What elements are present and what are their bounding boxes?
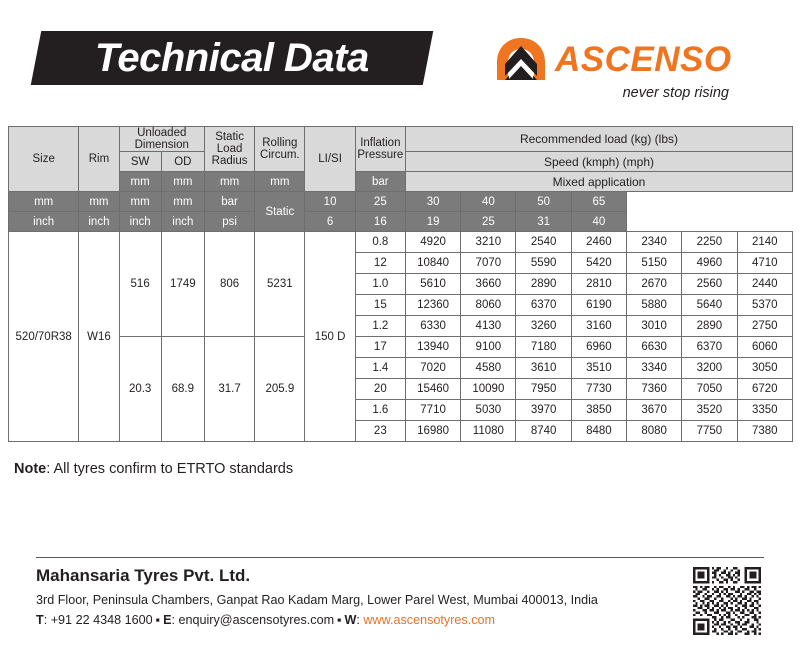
cell-load-2: 8480 <box>571 421 626 442</box>
cell-pressure: 1.2 <box>355 316 405 337</box>
phone-value: : +91 22 4348 1600 <box>44 613 153 627</box>
phone-label: T <box>36 613 44 627</box>
cell-li-si: 150 D <box>305 232 355 442</box>
cell-pressure: 15 <box>355 295 405 316</box>
page-header: Technical Data ASCENSO never stop rising <box>0 0 800 110</box>
unit-rc-inch: inch <box>161 212 204 232</box>
cell-load-2: 2460 <box>571 232 626 253</box>
cell-load-0: 11080 <box>461 421 516 442</box>
cell-load-2: 6960 <box>571 337 626 358</box>
brand-tagline: never stop rising <box>493 85 733 101</box>
speed-mph-4: 31 <box>516 212 571 232</box>
cell-load-3: 8080 <box>627 421 682 442</box>
cell-load-0: 9100 <box>461 337 516 358</box>
qr-code-icon <box>693 567 761 635</box>
cell-pressure: 12 <box>355 253 405 274</box>
cell-load-4: 3200 <box>682 358 737 379</box>
email-value[interactable]: : enquiry@ascensotyres.com <box>171 613 334 627</box>
cell-static-load: 15460 <box>405 379 460 400</box>
cell-static-load: 12360 <box>405 295 460 316</box>
cell-load-3: 2340 <box>627 232 682 253</box>
ascenso-chevron-arch-logo-icon <box>493 36 549 82</box>
unit-rc-mm-2: mm <box>161 192 204 212</box>
cell-sw-inch: 20.3 <box>119 337 161 442</box>
website-link[interactable]: www.ascensotyres.com <box>363 613 495 627</box>
speed-mph-5: 40 <box>571 212 626 232</box>
speed-kmph-5: 65 <box>571 192 626 212</box>
brand-name: ASCENSO <box>555 42 732 77</box>
unit-sw-inch: inch <box>9 212 79 232</box>
contact-separator-1: ▪ <box>153 613 163 627</box>
cell-load-3: 5880 <box>627 295 682 316</box>
cell-rc-inch: 205.9 <box>255 337 305 442</box>
cell-load-4: 7050 <box>682 379 737 400</box>
cell-load-5: 6720 <box>737 379 792 400</box>
cell-load-2: 6190 <box>571 295 626 316</box>
cell-od-mm: 1749 <box>161 232 204 337</box>
cell-load-5: 2140 <box>737 232 792 253</box>
web-label: W <box>345 613 357 627</box>
cell-load-0: 10090 <box>461 379 516 400</box>
cell-load-5: 6060 <box>737 337 792 358</box>
cell-pressure: 0.8 <box>355 232 405 253</box>
cell-load-5: 5370 <box>737 295 792 316</box>
cell-sw-mm: 516 <box>119 232 161 337</box>
col-header-size: Size <box>9 127 79 192</box>
unit-slr-mm: mm <box>204 172 254 192</box>
cell-load-1: 7180 <box>516 337 571 358</box>
cell-load-3: 3670 <box>627 400 682 421</box>
unit-od-inch: inch <box>79 212 119 232</box>
unit-pressure-bar: bar <box>355 172 405 192</box>
cell-pressure: 23 <box>355 421 405 442</box>
cell-load-3: 5150 <box>627 253 682 274</box>
company-name: Mahansaria Tyres Pvt. Ltd. <box>36 566 676 586</box>
speed-kmph-0: 10 <box>305 192 355 212</box>
cell-load-1: 2540 <box>516 232 571 253</box>
cell-load-5: 3350 <box>737 400 792 421</box>
technical-data-table-wrapper: Size Rim Unloaded Dimension Static Load … <box>8 126 793 442</box>
company-address: 3rd Floor, Peninsula Chambers, Ganpat Ra… <box>36 593 676 607</box>
col-header-sw: SW <box>119 152 161 172</box>
cell-load-5: 3050 <box>737 358 792 379</box>
cell-pressure: 17 <box>355 337 405 358</box>
col-header-rim: Rim <box>79 127 119 192</box>
col-header-inflation-pressure: Inflation Pressure <box>355 127 405 172</box>
speed-kmph-2: 30 <box>405 192 460 212</box>
brand-logo: ASCENSO never stop rising <box>493 36 733 101</box>
page-title: Technical Data <box>95 36 369 81</box>
col-header-speed: Speed (kmph) (mph) <box>405 152 792 172</box>
cell-load-1: 8740 <box>516 421 571 442</box>
unit-sw-mm-2: mm <box>9 192 79 212</box>
cell-load-4: 6370 <box>682 337 737 358</box>
cell-load-3: 7360 <box>627 379 682 400</box>
cell-pressure: 1.4 <box>355 358 405 379</box>
note-text: : All tyres confirm to ETRTO standards <box>46 461 293 477</box>
cell-load-0: 4580 <box>461 358 516 379</box>
table-header-row-speed-kmph: mm mm mm mm bar Static 10 25 30 40 50 65 <box>9 192 793 212</box>
cell-load-0: 7070 <box>461 253 516 274</box>
cell-size: 520/70R38 <box>9 232 79 442</box>
speed-mph-1: 16 <box>355 212 405 232</box>
cell-static-load: 4920 <box>405 232 460 253</box>
web-colon: : <box>356 613 360 627</box>
cell-load-1: 2890 <box>516 274 571 295</box>
cell-load-4: 7750 <box>682 421 737 442</box>
cell-load-2: 3510 <box>571 358 626 379</box>
cell-load-1: 3260 <box>516 316 571 337</box>
cell-static-load: 5610 <box>405 274 460 295</box>
footer-divider <box>36 557 764 558</box>
table-row: 520/70R38 W16 516 1749 806 5231 150 D 0.… <box>9 232 793 253</box>
cell-load-1: 6370 <box>516 295 571 316</box>
cell-static-load: 10840 <box>405 253 460 274</box>
speed-mph-3: 25 <box>461 212 516 232</box>
speed-mph-2: 19 <box>405 212 460 232</box>
col-header-recommended-load: Recommended load (kg) (lbs) <box>405 127 792 152</box>
cell-load-0: 8060 <box>461 295 516 316</box>
cell-load-5: 7380 <box>737 421 792 442</box>
contact-separator-2: ▪ <box>334 613 344 627</box>
speed-mph-0: 6 <box>305 212 355 232</box>
footer: Mahansaria Tyres Pvt. Ltd. 3rd Floor, Pe… <box>36 566 676 627</box>
cell-load-1: 3970 <box>516 400 571 421</box>
table-header-row-3: mm mm mm mm bar Mixed application <box>9 172 793 192</box>
col-header-unloaded-dimension: Unloaded Dimension <box>119 127 204 152</box>
unit-pressure-psi: psi <box>204 212 254 232</box>
cell-load-0: 5030 <box>461 400 516 421</box>
unit-od-mm-2: mm <box>79 192 119 212</box>
unit-pressure-bar-2: bar <box>204 192 254 212</box>
cell-static-load: 6330 <box>405 316 460 337</box>
cell-static-load: 7020 <box>405 358 460 379</box>
col-header-static-load-radius: Static Load Radius <box>204 127 254 172</box>
cell-load-4: 2250 <box>682 232 737 253</box>
col-header-mixed-application: Mixed application <box>405 172 792 192</box>
col-header-rolling-circum: Rolling Circum. <box>255 127 305 172</box>
cell-od-inch: 68.9 <box>161 337 204 442</box>
cell-load-5: 4710 <box>737 253 792 274</box>
cell-static-load: 7710 <box>405 400 460 421</box>
cell-rim: W16 <box>79 232 119 442</box>
cell-load-0: 3660 <box>461 274 516 295</box>
unit-slr-inch: inch <box>119 212 161 232</box>
cell-slr-inch: 31.7 <box>204 337 254 442</box>
unit-od-mm: mm <box>161 172 204 192</box>
cell-load-3: 6630 <box>627 337 682 358</box>
cell-load-1: 5590 <box>516 253 571 274</box>
cell-load-3: 3010 <box>627 316 682 337</box>
cell-load-5: 2750 <box>737 316 792 337</box>
speed-kmph-1: 25 <box>355 192 405 212</box>
cell-load-4: 2890 <box>682 316 737 337</box>
cell-load-5: 2440 <box>737 274 792 295</box>
cell-load-0: 3210 <box>461 232 516 253</box>
table-header-row-1: Size Rim Unloaded Dimension Static Load … <box>9 127 793 152</box>
note: Note: All tyres confirm to ETRTO standar… <box>14 461 293 477</box>
col-header-static: Static <box>255 192 305 232</box>
cell-load-3: 2670 <box>627 274 682 295</box>
page-title-banner: Technical Data <box>31 31 433 85</box>
cell-static-load: 13940 <box>405 337 460 358</box>
cell-load-4: 3520 <box>682 400 737 421</box>
cell-pressure: 20 <box>355 379 405 400</box>
unit-sw-mm: mm <box>119 172 161 192</box>
cell-load-2: 5420 <box>571 253 626 274</box>
speed-kmph-4: 50 <box>516 192 571 212</box>
cell-load-4: 4960 <box>682 253 737 274</box>
cell-load-4: 5640 <box>682 295 737 316</box>
cell-load-3: 3340 <box>627 358 682 379</box>
cell-load-4: 2560 <box>682 274 737 295</box>
cell-pressure: 1.0 <box>355 274 405 295</box>
cell-load-2: 7730 <box>571 379 626 400</box>
company-contact: T: +91 22 4348 1600▪E: enquiry@ascensoty… <box>36 613 676 627</box>
cell-rc-mm: 5231 <box>255 232 305 337</box>
cell-slr-mm: 806 <box>204 232 254 337</box>
col-header-li-si: LI/SI <box>305 127 355 192</box>
table-row: 20.3 68.9 31.7 205.9 17 13940 9100 7180 … <box>9 337 793 358</box>
col-header-od: OD <box>161 152 204 172</box>
cell-load-1: 7950 <box>516 379 571 400</box>
cell-load-2: 3160 <box>571 316 626 337</box>
note-label: Note <box>14 461 46 477</box>
cell-load-2: 3850 <box>571 400 626 421</box>
technical-data-table: Size Rim Unloaded Dimension Static Load … <box>8 126 793 442</box>
cell-static-load: 16980 <box>405 421 460 442</box>
unit-rc-mm: mm <box>255 172 305 192</box>
cell-load-2: 2810 <box>571 274 626 295</box>
cell-load-0: 4130 <box>461 316 516 337</box>
speed-kmph-3: 40 <box>461 192 516 212</box>
cell-load-1: 3610 <box>516 358 571 379</box>
unit-slr-mm-2: mm <box>119 192 161 212</box>
cell-pressure: 1.6 <box>355 400 405 421</box>
table-header-row-speed-mph: inch inch inch inch psi 6 16 19 25 31 40 <box>9 212 793 232</box>
